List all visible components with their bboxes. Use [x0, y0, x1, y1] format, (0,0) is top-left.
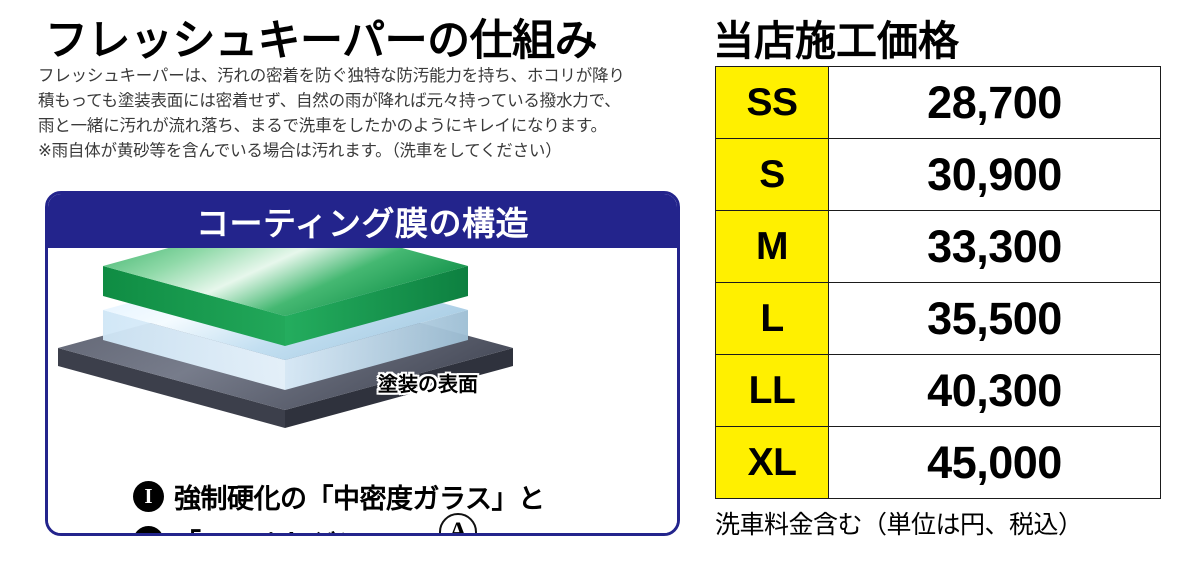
- intro-line-1: フレッシュキーパーは、汚れの密着を防ぐ独特な防汚能力を持ち、ホコリが降り: [38, 64, 688, 89]
- mechanism-section: フレッシュキーパーの仕組み フレッシュキーパーは、汚れの密着を防ぐ独特な防汚能力…: [0, 0, 700, 580]
- price-cell: 28,700: [829, 67, 1161, 139]
- page-title: フレッシュキーパーの仕組み: [45, 6, 597, 68]
- legend-item: A 「ECO＋レジン」: [133, 521, 673, 536]
- table-row: XL 45,000: [716, 427, 1161, 499]
- price-table: SS 28,700 S 30,900 M 33,300 L 35,500 LL: [715, 66, 1161, 499]
- intro-line-2: 積もっても塗装表面には密着せず、自然の雨が降れば元々持っている撥水力で、: [38, 89, 688, 114]
- size-cell: S: [716, 139, 829, 211]
- size-cell: M: [716, 211, 829, 283]
- price-cell: 30,900: [829, 139, 1161, 211]
- price-heading: 当店施工価格: [713, 7, 959, 67]
- price-table-body: SS 28,700 S 30,900 M 33,300 L 35,500 LL: [716, 67, 1161, 499]
- panel-header-title: コーティング膜の構造: [48, 194, 677, 248]
- table-row: M 33,300: [716, 211, 1161, 283]
- size-cell: XL: [716, 427, 829, 499]
- price-note: 洗車料金含む（単位は円、税込）: [715, 505, 1083, 541]
- legend-item: I 強制硬化の「中密度ガラス」と: [133, 476, 673, 516]
- coating-layer-diagram: [48, 248, 680, 428]
- table-row: LL 40,300: [716, 355, 1161, 427]
- paint-surface-label: 塗装の表面: [378, 368, 478, 397]
- price-cell: 40,300: [829, 355, 1161, 427]
- coating-structure-panel: コーティング膜の構造: [45, 191, 680, 536]
- price-cell: 45,000: [829, 427, 1161, 499]
- size-cell: LL: [716, 355, 829, 427]
- intro-paragraph: フレッシュキーパーは、汚れの密着を防ぐ独特な防汚能力を持ち、ホコリが降り 積もっ…: [38, 64, 688, 164]
- price-section: 当店施工価格 SS 28,700 S 30,900 M 33,300 L 35,…: [700, 0, 1200, 580]
- intro-line-4: ※雨自体が黄砂等を含んでいる場合は汚れます。（洗車をしてください）: [38, 139, 688, 164]
- table-row: L 35,500: [716, 283, 1161, 355]
- size-cell: SS: [716, 67, 829, 139]
- price-cell: 35,500: [829, 283, 1161, 355]
- table-row: S 30,900: [716, 139, 1161, 211]
- table-row: SS 28,700: [716, 67, 1161, 139]
- legend-label: 強制硬化の「中密度ガラス」と: [174, 477, 544, 516]
- size-cell: L: [716, 283, 829, 355]
- legend-badge-a-icon: A: [133, 526, 164, 537]
- intro-line-3: 雨と一緒に汚れが流れ落ち、まるで洗車をしたかのようにキレイになります。: [38, 114, 688, 139]
- price-cell: 33,300: [829, 211, 1161, 283]
- legend-label: 「ECO＋レジン」: [174, 522, 390, 537]
- legend-badge-i-icon: I: [133, 481, 164, 512]
- legend-list: I 強制硬化の「中密度ガラス」と A 「ECO＋レジン」: [133, 476, 673, 536]
- poster-canvas: フレッシュキーパーの仕組み フレッシュキーパーは、汚れの密着を防ぐ独特な防汚能力…: [0, 0, 1200, 580]
- panel-body: 塗装の表面 A I I 強制硬化の「中密度ガラス」と A 「ECO＋レジン」: [48, 248, 677, 536]
